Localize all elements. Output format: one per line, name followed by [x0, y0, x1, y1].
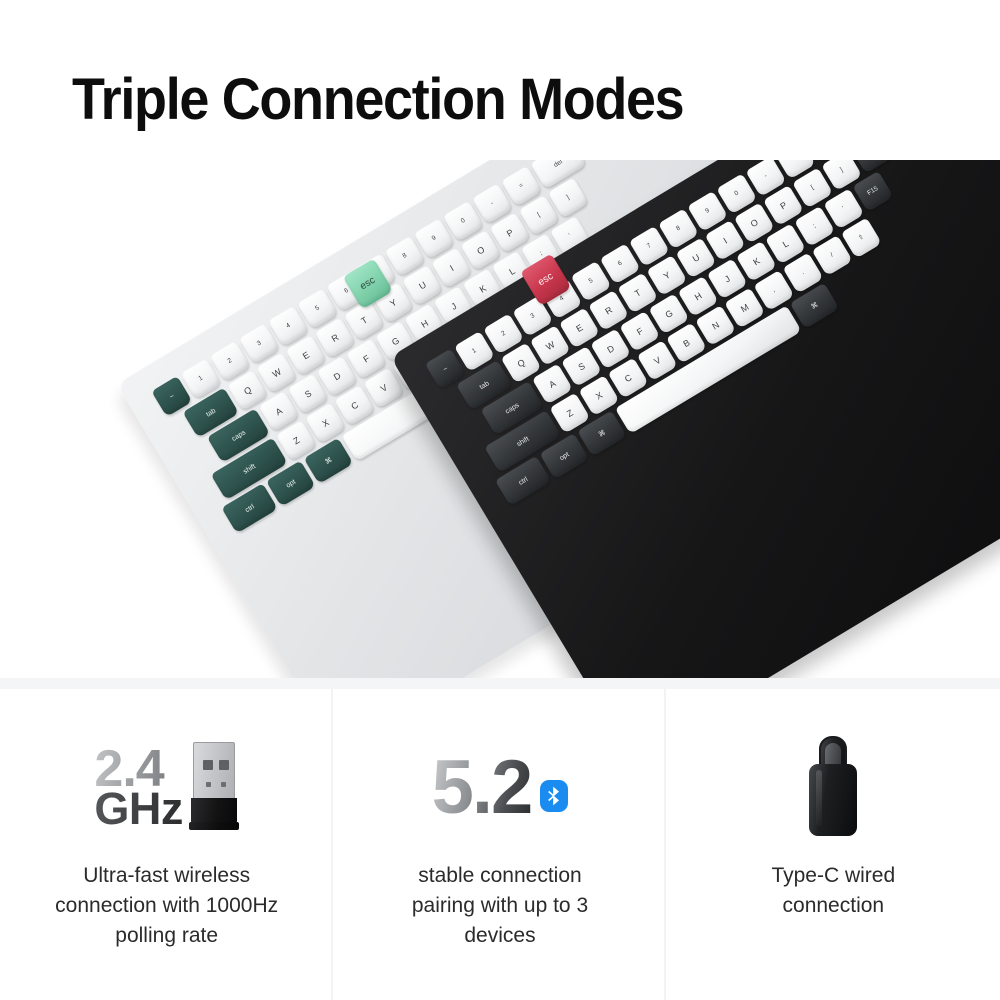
ghz-unit: GHz: [94, 791, 183, 828]
feature-bluetooth-52: 5.2 stable connection pairing with up to…: [333, 689, 666, 1000]
usb-dongle-icon: [189, 742, 239, 834]
feature-caption-24ghz: Ultra-fast wireless connection with 1000…: [42, 861, 292, 950]
usb-detent: [221, 782, 226, 787]
feature-visual-bluetooth: 5.2: [432, 729, 569, 847]
usb-base-lip: [189, 822, 239, 830]
usb-type-c-icon: [805, 736, 861, 840]
bluetooth-icon: [540, 780, 568, 812]
usb-connector-shell: [193, 742, 235, 800]
keyboard-stage: ~ 1 2 3 4 5 6 7 8 9 0 - = del ta: [0, 160, 1000, 678]
usb-contact-pad: [219, 760, 229, 770]
ghz-text: 2.4 GHz: [94, 748, 183, 828]
feature-caption-type-c: Type-C wired connection: [718, 861, 948, 921]
feature-visual-type-c: [805, 729, 861, 847]
ghz-lockup: 2.4 GHz: [94, 742, 239, 834]
type-c-housing: [809, 764, 857, 836]
feature-type-c: Type-C wired connection: [667, 689, 1000, 1000]
bluetooth-lockup: 5.2: [432, 754, 569, 822]
feature-wireless-24ghz: 2.4 GHz Ultra-fast wireless connection w…: [0, 689, 333, 1000]
hero-product-image: ~ 1 2 3 4 5 6 7 8 9 0 - = del ta: [0, 160, 1000, 678]
feature-caption-bluetooth: stable connection pairing with up to 3 d…: [385, 861, 615, 950]
usb-detent: [206, 782, 211, 787]
usb-plastic-body: [191, 798, 237, 824]
page-title: Triple Connection Modes: [72, 68, 683, 132]
feature-row: 2.4 GHz Ultra-fast wireless connection w…: [0, 689, 1000, 1000]
bluetooth-version-number: 5.2: [432, 754, 532, 822]
usb-contact-pad: [203, 760, 213, 770]
section-divider-band: [0, 678, 1000, 689]
feature-visual-24ghz: 2.4 GHz: [94, 729, 239, 847]
